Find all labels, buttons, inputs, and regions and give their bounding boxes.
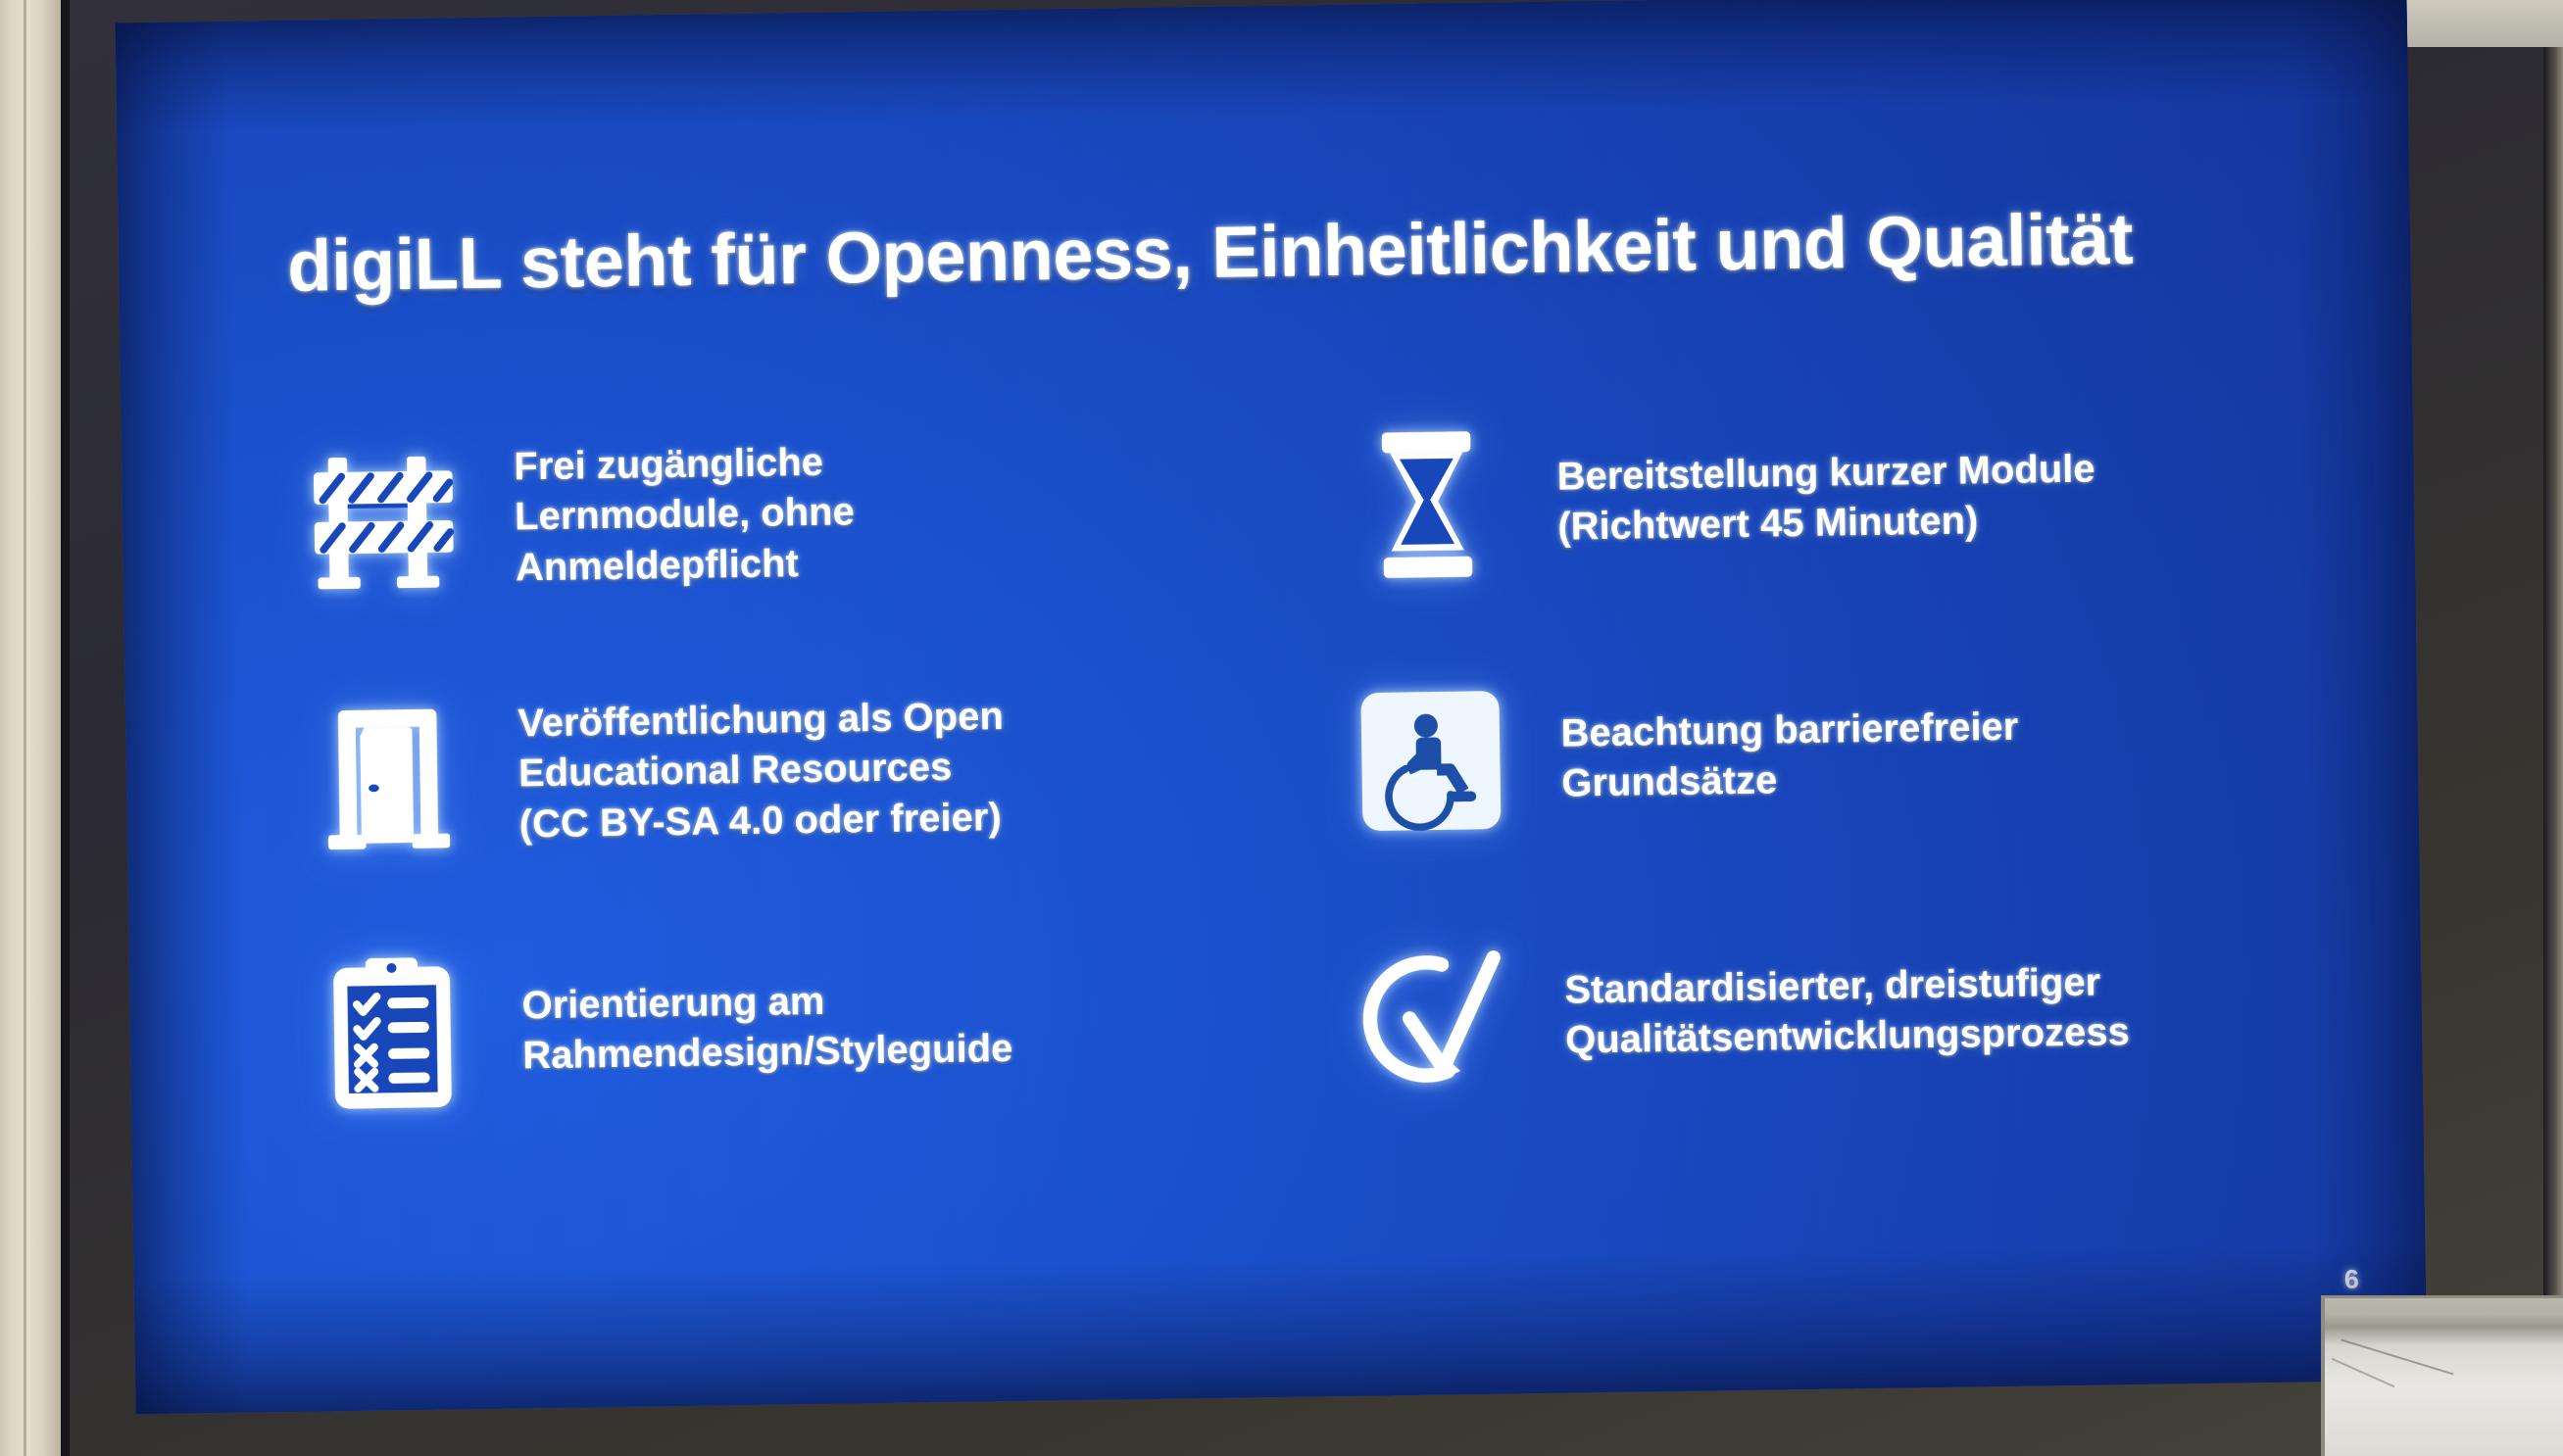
cycle-checkmark-icon [1340,923,1529,1112]
feature-columns: Frei zugängliche Lernmodule, ohne Anmeld… [289,364,2280,1163]
feature-text-line: Qualitätsentwicklungsprozess [1565,1005,2280,1066]
feature-column-right: Bereitstellung kurzer Module (Richtwert … [1332,364,2281,1147]
page-title: digiLL steht für Openness, Einheitlichke… [287,195,2268,308]
feature-text: Beachtung barrierefreier Grundsätze [1523,699,2275,810]
clipboard-checklist-icon [298,939,487,1128]
feature-text-line: Rahmendesign/Styleguide [522,1021,1237,1082]
barrier-icon [290,425,479,614]
feature-text-line: (Richtwert 45 Minuten) [1557,492,2272,553]
presentation-slide: digiLL steht für Openness, Einheitlichke… [116,0,2428,1414]
feature-text-line: Anmeldepflicht [516,532,1230,593]
feature-item: Bereitstellung kurzer Module (Richtwert … [1332,364,2273,634]
feature-item: Frei zugängliche Lernmodule, ohne Anmeld… [289,379,1230,650]
projection-screen: digiLL steht für Openness, Einheitlichke… [116,0,2428,1414]
wheelchair-accessibility-icon [1337,666,1526,855]
feature-item: Veröffentlichung als Open Educational Re… [293,636,1234,906]
feature-item: Orientierung am Rahmendesign/Styleguide [297,893,1238,1163]
feature-item: Beachtung barrierefreier Grundsätze [1336,620,2277,891]
feature-text: Bereitstellung kurzer Module (Richtwert … [1519,442,2271,554]
feature-text: Frei zugängliche Lernmodule, ohne Anmeld… [476,432,1229,594]
open-door-icon [294,682,483,871]
feature-item: Standardisierter, dreistufiger Qualitäts… [1340,877,2281,1147]
hourglass-icon [1333,410,1522,599]
wall-left-strip [0,0,61,1456]
slide-page-number: 6 [2344,1265,2359,1295]
feature-text-line: (CC BY-SA 4.0 oder freier) [518,789,1233,849]
feature-column-left: Frei zugängliche Lernmodule, ohne Anmeld… [289,379,1238,1163]
feature-text: Orientierung am Rahmendesign/Styleguide [484,970,1236,1082]
screen-left-bezel-edge [61,0,70,1456]
feature-text: Standardisierter, dreistufiger Qualitäts… [1527,955,2279,1067]
projection-photo-scene: digiLL steht für Openness, Einheitlichke… [0,0,2563,1456]
flipchart-surface [2321,1295,2563,1456]
screen-right-bezel-edge [2543,0,2563,1456]
feature-text-line: Grundsätze [1561,749,2276,809]
flipchart-board [2321,1295,2563,1456]
feature-text: Veröffentlichung als Open Educational Re… [480,689,1233,850]
